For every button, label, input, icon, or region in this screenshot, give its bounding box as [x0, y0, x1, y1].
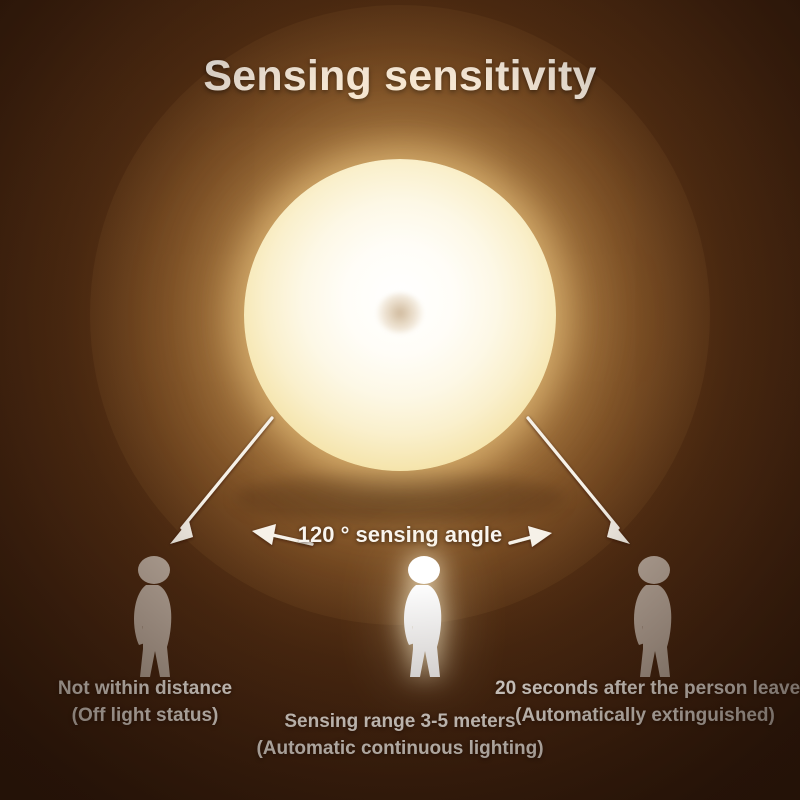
walking-person-icon-center — [382, 553, 468, 679]
caption-right-line-2: (Automatically extinguished) — [495, 703, 795, 730]
caption-right: 20 seconds after the person leaves (Auto… — [495, 676, 795, 730]
caption-center-line-2: (Automatic continuous lighting) — [250, 736, 550, 763]
lamp-shadow — [235, 470, 565, 526]
walking-person-icon-right — [612, 553, 698, 679]
caption-left-line-2: (Off light status) — [20, 703, 270, 730]
motion-sensor-night-light — [244, 159, 556, 471]
caption-left: Not within distance (Off light status) — [20, 676, 270, 730]
page-title: Sensing sensitivity — [0, 52, 800, 101]
caption-left-line-1: Not within distance — [20, 676, 270, 703]
walking-person-icon-left — [112, 553, 198, 679]
sensor-dot-icon — [377, 293, 423, 333]
caption-right-line-1: 20 seconds after the person leaves — [495, 676, 795, 703]
infographic-canvas: Sensing sensitivity — [0, 0, 800, 800]
sensing-angle-label: 120 ° sensing angle — [0, 522, 800, 548]
